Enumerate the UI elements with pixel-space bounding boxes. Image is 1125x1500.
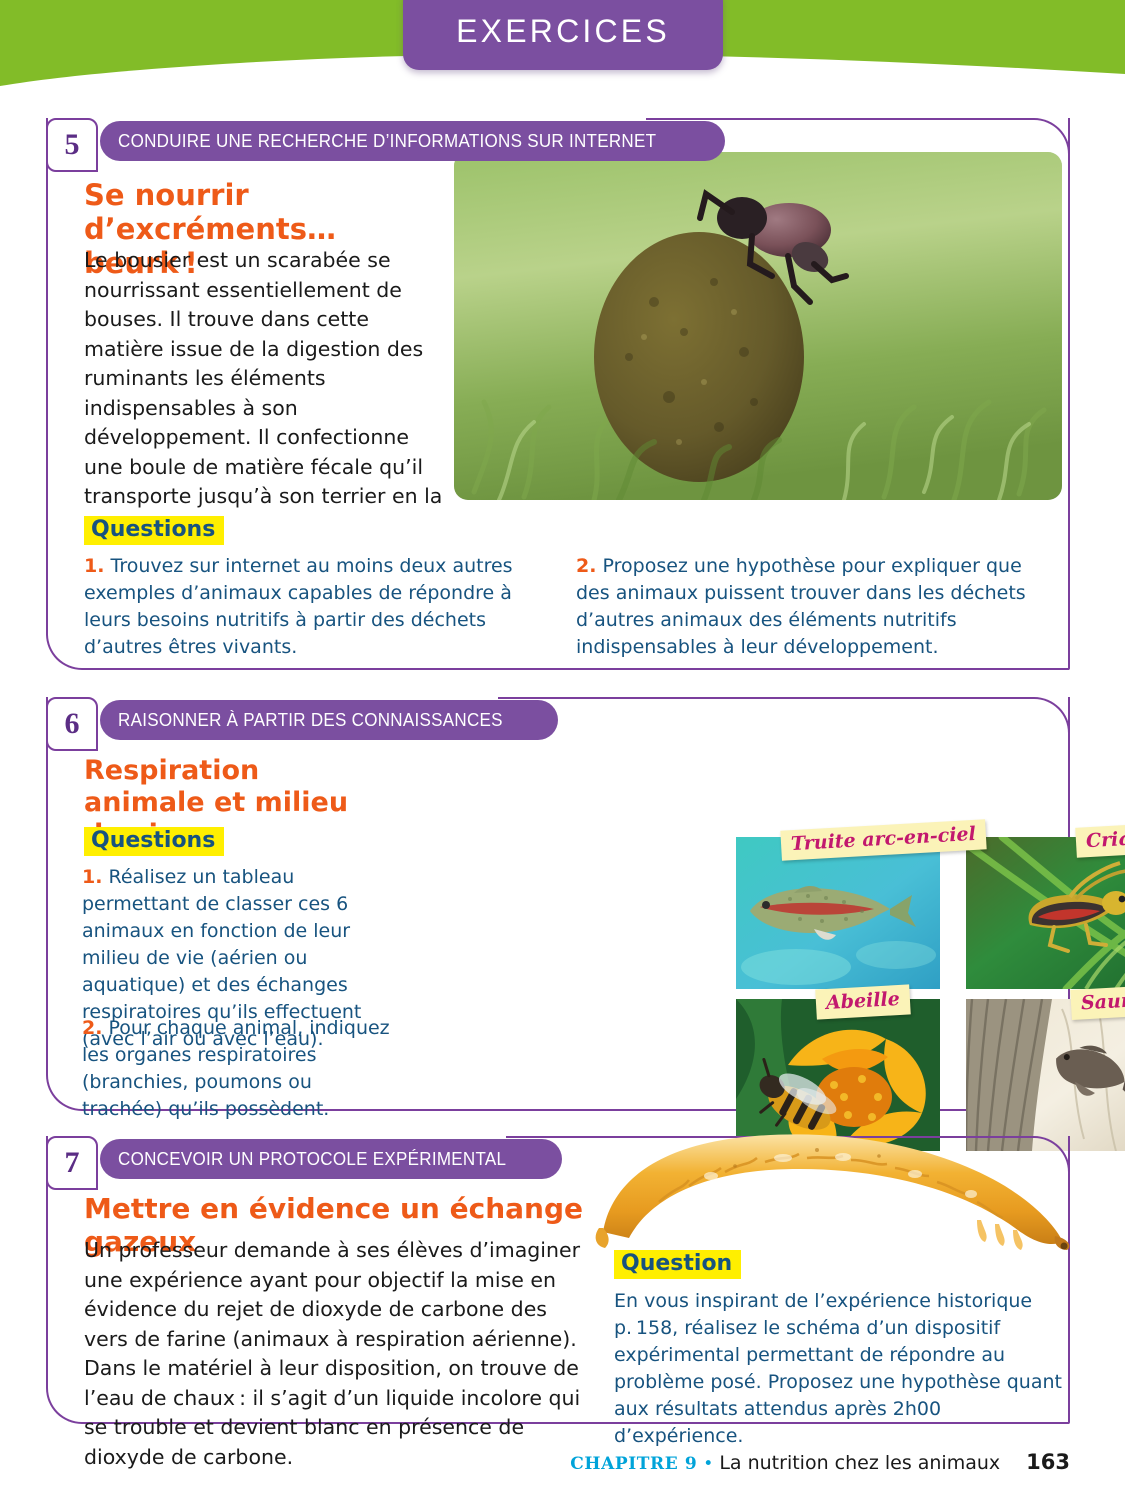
question-5-2: 2. Proposez une hypothèse pour expliquer… xyxy=(576,553,1054,661)
exercise-number-5: 5 xyxy=(46,118,98,172)
footer-chapter-title: La nutrition chez les animaux xyxy=(719,1452,1000,1474)
card-top-line-right xyxy=(498,697,1032,699)
question-text: Pour chaque animal, indiquez les organes… xyxy=(82,1017,390,1120)
sticker-label-salmon: Saumon xyxy=(1070,984,1125,1020)
exercise-card-6: 6 RAISONNER À PARTIR DES CONNAISSANCES R… xyxy=(46,697,1070,1111)
exercise-body-5: Le bousier est un scarabée se nourrissan… xyxy=(84,246,446,541)
sticker-label-bee: Abeille xyxy=(815,984,910,1019)
locust-photo xyxy=(966,837,1125,989)
footer-separator: • xyxy=(703,1454,713,1474)
exercise-number-7: 7 xyxy=(46,1136,98,1190)
question-text: Proposez une hypothèse pour expliquer qu… xyxy=(576,555,1026,658)
questions-label-7: Question xyxy=(614,1250,741,1279)
questions-label-6: Questions xyxy=(84,827,224,856)
question-7-1: En vous inspirant de l’expérience histor… xyxy=(614,1288,1064,1450)
footer-chapter: CHAPITRE 9 xyxy=(570,1454,697,1474)
page-footer: CHAPITRE 9 • La nutrition chez les anima… xyxy=(570,1450,1070,1474)
questions-block-5: Questions xyxy=(84,516,1029,545)
question-number: 1. xyxy=(84,555,104,577)
sticker-label-locust: Criquet xyxy=(1075,822,1125,858)
page-title: EXERCICES xyxy=(456,7,670,50)
exercise-body-7: Un professeur demande à ses élèves d’ima… xyxy=(84,1236,584,1472)
question-text: En vous inspirant de l’expérience histor… xyxy=(614,1290,1062,1447)
footer-page-number: 163 xyxy=(1026,1450,1070,1474)
exercise-number-6: 6 xyxy=(46,697,98,751)
question-5-1: 1. Trouvez sur internet au moins deux au… xyxy=(84,553,554,661)
question-number: 1. xyxy=(82,866,102,888)
questions-block-6: Questions xyxy=(84,827,224,856)
questions-block-7: Question xyxy=(614,1250,741,1279)
question-number: 2. xyxy=(82,1017,102,1039)
exercise-skill-tag-6: RAISONNER À PARTIR DES CONNAISSANCES xyxy=(100,700,558,740)
dung-beetle-photo xyxy=(454,152,1062,500)
page-title-tab: EXERCICES xyxy=(403,0,723,70)
exercise-card-5: 5 CONDUIRE UNE RECHERCHE D’INFORMATIONS … xyxy=(46,118,1070,670)
question-number: 2. xyxy=(576,555,596,577)
question-6-2: 2. Pour chaque animal, indiquez les orga… xyxy=(82,1015,394,1123)
trout-photo xyxy=(736,837,940,989)
card-top-line-right xyxy=(646,118,1032,120)
exercise-skill-tag-5: CONDUIRE UNE RECHERCHE D’INFORMATIONS SU… xyxy=(100,121,725,161)
mealworm-larva-photo xyxy=(585,1124,1085,1254)
question-text: Trouvez sur internet au moins deux autre… xyxy=(84,555,513,658)
exercise-skill-tag-7: CONCEVOIR UN PROTOCOLE EXPÉRIMENTAL xyxy=(100,1139,562,1179)
questions-label-5: Questions xyxy=(84,516,224,545)
